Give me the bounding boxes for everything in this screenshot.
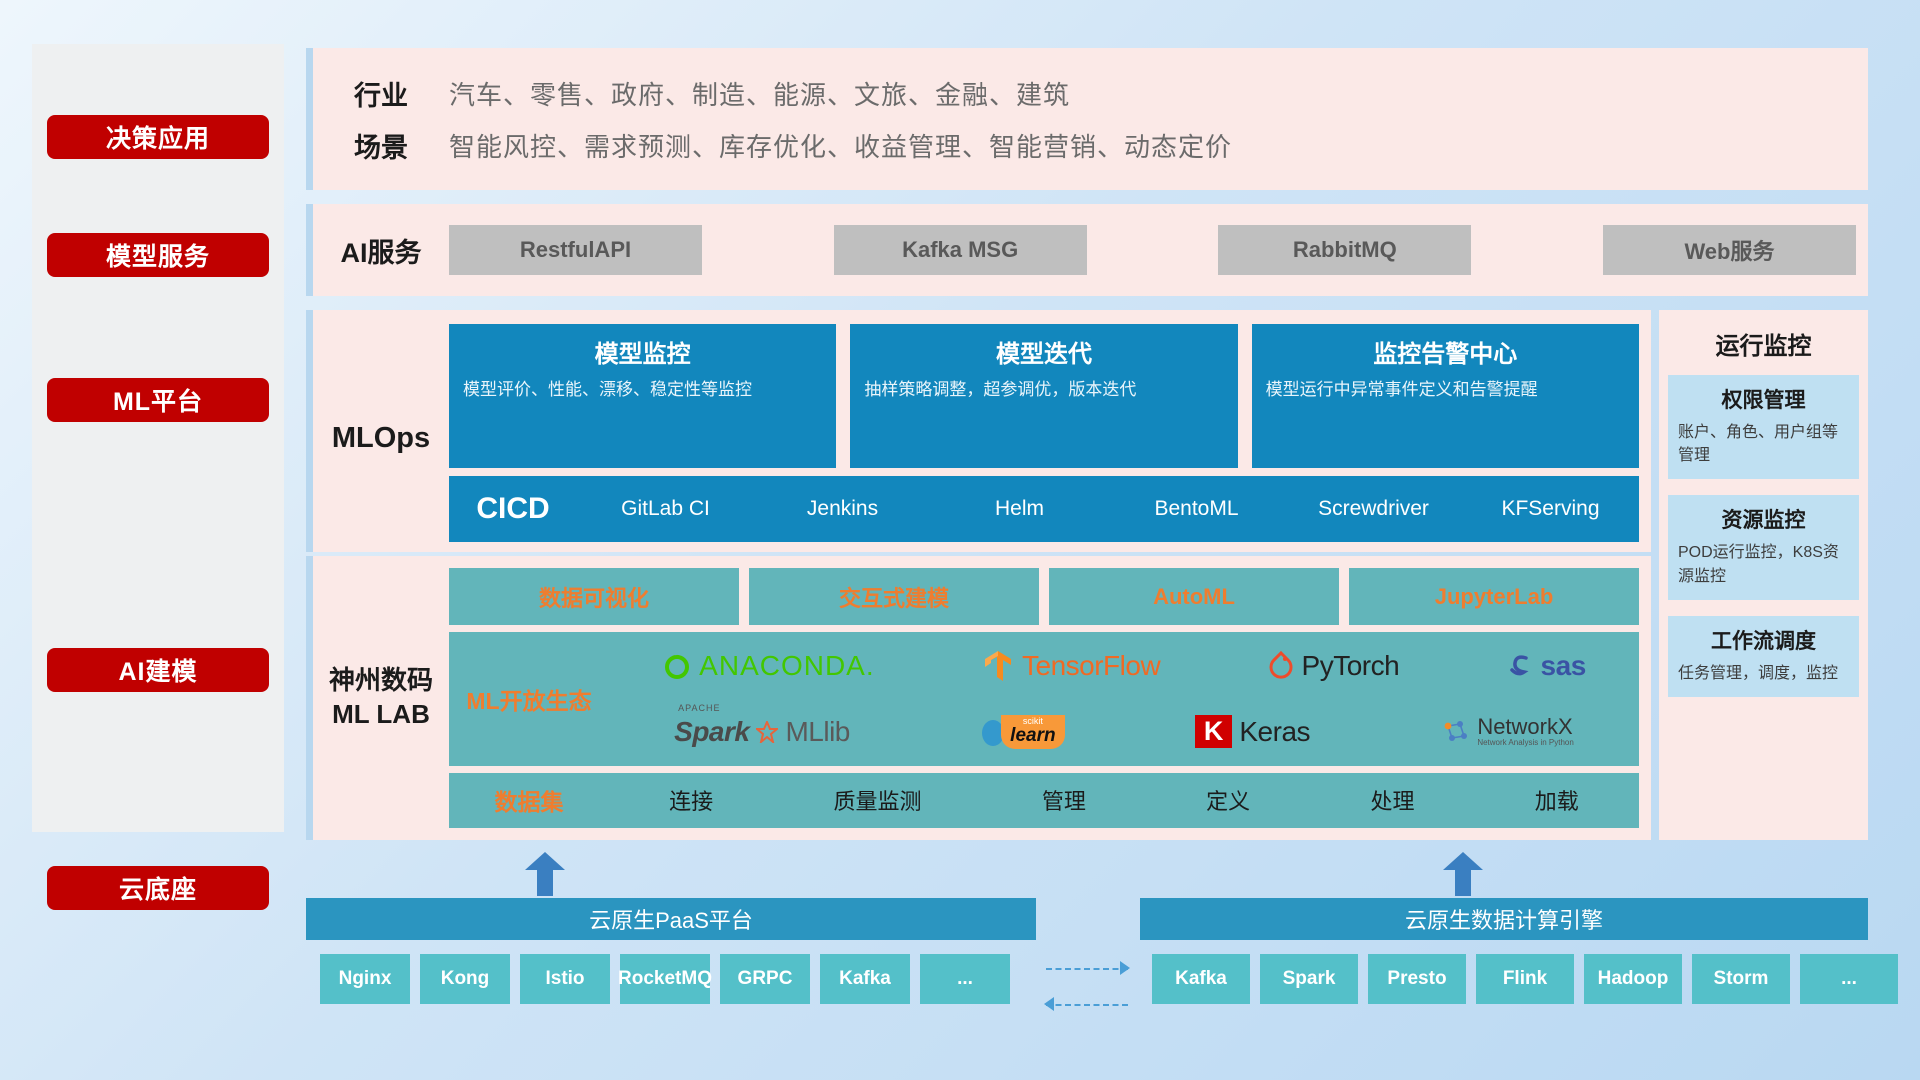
tensorflow-logo: TensorFlow [981, 649, 1160, 683]
keras-label: Keras [1239, 716, 1310, 748]
networkx-label: NetworkX [1477, 716, 1574, 738]
dataset-item[interactable]: 加载 [1535, 784, 1579, 816]
rail-item-decision-apps[interactable]: 决策应用 [47, 115, 269, 159]
ai-tool[interactable]: AutoML [1049, 568, 1339, 625]
dataset-item[interactable]: 管理 [1042, 784, 1086, 816]
cicd-item[interactable]: Helm [931, 496, 1108, 522]
mlops-panel: MLOps 模型监控 模型评价、性能、漂移、稳定性等监控 模型迭代 抽样策略调整… [306, 310, 1651, 552]
scene-value: 智能风控、需求预测、库存优化、收益管理、智能营销、动态定价 [449, 127, 1232, 164]
spark-apache-sup: APACHE [678, 703, 720, 713]
dataset-item[interactable]: 连接 [669, 784, 713, 816]
data-engine-chip[interactable]: Kafka [1152, 954, 1250, 1004]
cicd-item-list: GitLab CI Jenkins Helm BentoML Screwdriv… [577, 496, 1639, 522]
anaconda-logo: ANACONDA. [662, 650, 874, 682]
runtime-monitor-panel: 运行监控 权限管理 账户、角色、用户组等管理 资源监控 POD运行监控，K8S资… [1659, 310, 1868, 840]
keras-logo: K Keras [1195, 715, 1310, 748]
mlops-card-title: 模型监控 [463, 334, 822, 369]
dataset-item[interactable]: 质量监测 [833, 784, 921, 816]
diagram-canvas: 决策应用 模型服务 ML平台 AI建模 云底座 行业 汽车、零售、政府、制造、能… [0, 0, 1920, 1080]
paas-platform-bar[interactable]: 云原生PaaS平台 [306, 898, 1036, 940]
ai-service-chip[interactable]: RestfulAPI [449, 225, 702, 275]
connector-dashed-left [1046, 1004, 1128, 1006]
rail-item-cloud-base[interactable]: 云底座 [47, 866, 269, 910]
mlops-key: MLOps [313, 324, 449, 552]
ai-service-chip[interactable]: Web服务 [1603, 225, 1856, 275]
runtime-monitor-title: 运行监控 [1668, 326, 1859, 361]
paas-up-arrow-icon [525, 852, 565, 896]
cicd-title: CICD [449, 492, 577, 526]
sas-logo: sas [1506, 650, 1586, 682]
mllib-label: MLlib [785, 716, 849, 748]
cicd-item[interactable]: KFServing [1462, 496, 1639, 522]
dataset-item[interactable]: 定义 [1206, 784, 1250, 816]
data-engine-chip[interactable]: Storm [1692, 954, 1790, 1004]
rail-item-ai-modeling[interactable]: AI建模 [47, 648, 269, 692]
tensorflow-icon [981, 649, 1015, 683]
monitor-card-desc: POD运行监控，K8S资源监控 [1678, 541, 1849, 587]
connector-arrow-left-icon [1044, 997, 1054, 1011]
scene-key: 场景 [313, 126, 449, 165]
dataset-item-list: 连接 质量监测 管理 定义 处理 加载 [609, 784, 1639, 816]
cicd-item[interactable]: GitLab CI [577, 496, 754, 522]
dataset-band: 数据集 连接 质量监测 管理 定义 处理 加载 [449, 773, 1639, 828]
networkx-sub: Network Analysis in Python [1477, 738, 1574, 748]
industry-row: 行业 汽车、零售、政府、制造、能源、文旅、金融、建筑 [313, 67, 1868, 119]
paas-chip[interactable]: Kong [420, 954, 510, 1004]
ai-tool-list: 数据可视化 交互式建模 AutoML JupyterLab [449, 568, 1639, 625]
data-engine-chip[interactable]: Spark [1260, 954, 1358, 1004]
rail-label: 决策应用 [106, 119, 210, 155]
ml-lab-key-line2: ML LAB [329, 698, 433, 732]
anaconda-icon [662, 651, 692, 681]
monitor-card-title: 资源监控 [1678, 504, 1849, 534]
mlops-card[interactable]: 模型监控 模型评价、性能、漂移、稳定性等监控 [449, 324, 836, 468]
ml-ecosystem-label: ML开放生态 [449, 682, 609, 716]
spark-mllib-logo: APACHE Spark MLlib [674, 716, 850, 748]
learn-label: learn [1010, 726, 1055, 745]
monitor-card-title: 权限管理 [1678, 384, 1849, 414]
monitor-card-workflow[interactable]: 工作流调度 任务管理，调度，监控 [1668, 616, 1859, 697]
ai-service-chip-list: RestfulAPI Kafka MSG RabbitMQ Web服务 [449, 225, 1868, 275]
ml-ecosystem-band: ML开放生态 ANACONDA. [449, 632, 1639, 766]
pytorch-label: PyTorch [1302, 650, 1400, 682]
dataset-item[interactable]: 处理 [1370, 784, 1414, 816]
data-engine-chip[interactable]: Presto [1368, 954, 1466, 1004]
data-engine-label: 云原生数据计算引擎 [1405, 903, 1603, 935]
networkx-logo: NetworkX Network Analysis in Python [1440, 716, 1574, 748]
ml-ecosystem-logo-row-1: ANACONDA. TensorFlow [609, 634, 1639, 698]
dataset-label: 数据集 [449, 783, 609, 817]
left-rail: 决策应用 模型服务 ML平台 AI建模 [32, 44, 284, 832]
paas-chip-list: Nginx Kong Istio RocketMQ GRPC Kafka ... [320, 954, 1010, 1004]
anaconda-label: ANACONDA. [699, 650, 874, 682]
ai-service-panel: AI服务 RestfulAPI Kafka MSG RabbitMQ Web服务 [306, 204, 1868, 296]
mlops-card-desc: 抽样策略调整，超参调优，版本迭代 [864, 378, 1223, 403]
data-engine-chip-list: Kafka Spark Presto Flink Hadoop Storm ..… [1152, 954, 1898, 1004]
cicd-item[interactable]: BentoML [1108, 496, 1285, 522]
mlops-card-title: 模型迭代 [864, 334, 1223, 369]
pytorch-logo: PyTorch [1267, 650, 1400, 682]
monitor-card-title: 工作流调度 [1678, 625, 1849, 655]
monitor-card-desc: 账户、角色、用户组等管理 [1678, 421, 1849, 467]
ai-service-chip[interactable]: RabbitMQ [1218, 225, 1471, 275]
ai-tool[interactable]: JupyterLab [1349, 568, 1639, 625]
industry-value: 汽车、零售、政府、制造、能源、文旅、金融、建筑 [449, 75, 1070, 112]
rail-label: 云底座 [119, 870, 197, 906]
networkx-icon [1440, 718, 1470, 746]
pytorch-icon [1267, 651, 1295, 681]
decision-apps-panel: 行业 汽车、零售、政府、制造、能源、文旅、金融、建筑 场景 智能风控、需求预测、… [306, 48, 1868, 190]
connector-dashed-right [1046, 968, 1128, 970]
mlops-card-desc: 模型评价、性能、漂移、稳定性等监控 [463, 378, 822, 403]
rail-label: ML平台 [113, 382, 203, 418]
paas-chip[interactable]: Istio [520, 954, 610, 1004]
ai-service-key: AI服务 [313, 231, 449, 270]
monitor-card-permissions[interactable]: 权限管理 账户、角色、用户组等管理 [1668, 375, 1859, 479]
mlops-card-desc: 模型运行中异常事件定义和告警提醒 [1266, 378, 1625, 403]
mlops-card-list: 模型监控 模型评价、性能、漂移、稳定性等监控 模型迭代 抽样策略调整，超参调优，… [449, 324, 1639, 468]
paas-chip[interactable]: ... [920, 954, 1010, 1004]
scene-row: 场景 智能风控、需求预测、库存优化、收益管理、智能营销、动态定价 [313, 119, 1868, 171]
data-engine-chip[interactable]: Flink [1476, 954, 1574, 1004]
data-engine-bar[interactable]: 云原生数据计算引擎 [1140, 898, 1868, 940]
data-engine-chip[interactable]: Hadoop [1584, 954, 1682, 1004]
ml-ecosystem-logo-row-2: APACHE Spark MLlib [609, 700, 1639, 764]
industry-key: 行业 [313, 74, 449, 113]
rail-item-model-service[interactable]: 模型服务 [47, 233, 269, 277]
ai-tool[interactable]: 数据可视化 [449, 568, 739, 625]
rail-item-ml-platform[interactable]: ML平台 [47, 378, 269, 422]
sas-label: sas [1541, 650, 1586, 682]
scikit-learn-logo: scikit learn [980, 715, 1064, 749]
spark-star-icon [756, 721, 778, 743]
mlops-card[interactable]: 模型迭代 抽样策略调整，超参调优，版本迭代 [850, 324, 1237, 468]
rail-label: AI建模 [118, 652, 197, 688]
cicd-item[interactable]: Jenkins [754, 496, 931, 522]
rail-label: 模型服务 [106, 237, 210, 273]
sas-icon [1506, 652, 1534, 680]
ml-lab-key: 神州数码 ML LAB [313, 568, 449, 828]
data-engine-chip[interactable]: ... [1800, 954, 1898, 1004]
monitor-card-resources[interactable]: 资源监控 POD运行监控，K8S资源监控 [1668, 495, 1859, 599]
connector-arrow-right-icon [1120, 961, 1130, 975]
paas-platform-label: 云原生PaaS平台 [589, 903, 753, 935]
ai-modeling-panel: 神州数码 ML LAB 数据可视化 交互式建模 AutoML JupyterLa… [306, 556, 1651, 840]
paas-chip[interactable]: Nginx [320, 954, 410, 1004]
paas-chip[interactable]: GRPC [720, 954, 810, 1004]
tensorflow-label: TensorFlow [1022, 650, 1160, 682]
cicd-bar: CICD GitLab CI Jenkins Helm BentoML Scre… [449, 476, 1639, 542]
paas-chip[interactable]: RocketMQ [620, 954, 710, 1004]
ai-service-chip[interactable]: Kafka MSG [834, 225, 1087, 275]
ai-tool[interactable]: 交互式建模 [749, 568, 1039, 625]
paas-chip[interactable]: Kafka [820, 954, 910, 1004]
spark-label: Spark [674, 716, 749, 747]
mlops-card-title: 监控告警中心 [1266, 334, 1625, 369]
monitor-card-desc: 任务管理，调度，监控 [1678, 662, 1849, 685]
data-engine-up-arrow-icon [1443, 852, 1483, 896]
cicd-item[interactable]: Screwdriver [1285, 496, 1462, 522]
ml-lab-key-line1: 神州数码 [329, 664, 433, 698]
mlops-card[interactable]: 监控告警中心 模型运行中异常事件定义和告警提醒 [1252, 324, 1639, 468]
